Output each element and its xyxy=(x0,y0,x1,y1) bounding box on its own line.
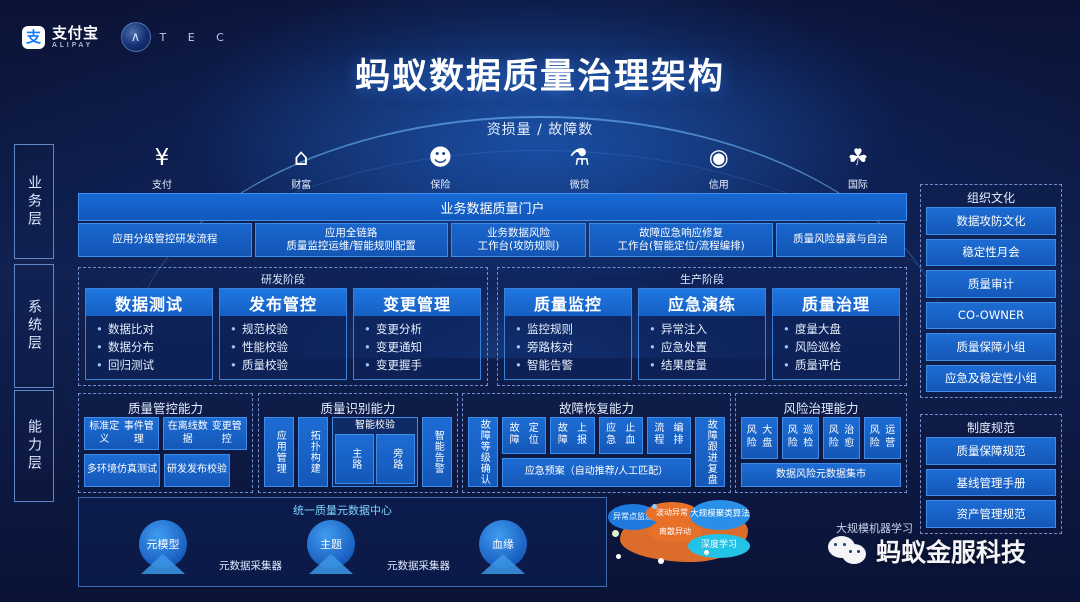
meta-collector-label: 元数据采集器 xyxy=(219,558,282,573)
risk-governance-group: 风险治理能力风险大盘风险巡检风险治愈风险运营数据风险元数据集市 xyxy=(735,393,907,493)
meta-beam-icon xyxy=(309,554,353,574)
fault-box[interactable]: 故障上报 xyxy=(550,417,594,454)
system-card-item: 风险巡检 xyxy=(773,339,899,357)
business-icon-label: 国际 xyxy=(826,176,890,191)
business-box-line: 工作台(智能定位/流程编排) xyxy=(617,240,744,253)
risk-datamart-box[interactable]: 数据风险元数据集市 xyxy=(741,463,901,487)
fault-recovery-group-body: 故障等级确认故障定位故障上报应急止血流程编排应急预案（自动推荐/人工匹配）故障跟… xyxy=(468,417,725,487)
system-card-item: 规范校验 xyxy=(220,321,346,339)
business-box-line: 工作台(攻防规则) xyxy=(478,240,560,253)
smart-verify-item[interactable]: 主路 xyxy=(335,434,374,484)
business-icon-cell: ⌂财富 xyxy=(269,143,333,191)
cap-line: 上报 xyxy=(572,423,591,448)
right-panel-item[interactable]: 数据攻防文化 xyxy=(926,207,1056,235)
right-panel-items: 数据攻防文化稳定性月会质量审计CO-OWNER质量保障小组应急及稳定性小组 xyxy=(926,207,1056,392)
quality-control-box[interactable]: 标准定义事件管理 xyxy=(84,417,159,450)
cap-line: 多环境 xyxy=(87,464,117,477)
system-card-item: 监控规则 xyxy=(505,321,631,339)
business-portal-header: 业务数据质量门户 xyxy=(78,193,907,221)
business-box-line: 质量风险暴露与自治 xyxy=(793,233,888,246)
page-title: 蚂蚁数据质量治理架构 xyxy=(0,48,1080,99)
cap-row: 标准定义事件管理在离线数据变更管控 xyxy=(84,417,247,450)
cap-line: 止血 xyxy=(621,423,640,448)
cap-line: 巡检 xyxy=(801,425,817,450)
system-card-item: 变更握手 xyxy=(354,357,480,375)
system-card-item: 应急处置 xyxy=(639,339,765,357)
quality-control-group: 质量管控能力标准定义事件管理在离线数据变更管控多环境仿真测试研发发布校验 xyxy=(78,393,253,493)
risk-governance-group-body: 风险大盘风险巡检风险治愈风险运营数据风险元数据集市 xyxy=(741,417,901,487)
business-icon-row: ¥支付⌂财富☻保险⚗微贷◉信用☘国际 xyxy=(130,143,890,191)
cap-line: 大盘 xyxy=(760,425,776,450)
system-card-质量监控[interactable]: 质量监控监控规则旁路核对智能告警 xyxy=(504,288,632,380)
cap-line: 发布校验 xyxy=(187,464,227,477)
fault-followup-box[interactable]: 故障跟进复盘 xyxy=(695,417,725,487)
layer-label-0: 业务层 xyxy=(14,144,54,259)
meta-center-title: 统一质量元数据中心 xyxy=(79,502,606,518)
alipay-name-cn: 支付宝 xyxy=(52,26,99,41)
ai-node-dot-0 xyxy=(612,530,619,537)
cap-line: 故障等级确认 xyxy=(477,419,490,485)
cap-line: 研发 xyxy=(167,464,187,477)
business-icon-cell: ⚗微贷 xyxy=(548,143,612,191)
risk-top-row: 风险大盘风险巡检风险治愈风险运营 xyxy=(741,417,901,459)
quality-identify-group-body: 应用管理拓扑构建智能校验主路旁路智能告警 xyxy=(264,417,452,487)
system-card-title: 发布管控 xyxy=(220,289,346,316)
business-box-3[interactable]: 故障应急响应修复工作台(智能定位/流程编排) xyxy=(589,223,772,257)
clover-icon: ☘ xyxy=(826,143,890,173)
risk-box[interactable]: 风险巡检 xyxy=(782,417,819,459)
system-card-title: 质量监控 xyxy=(505,289,631,316)
emergency-plan-box[interactable]: 应急预案（自动推荐/人工匹配） xyxy=(502,458,691,487)
page-subtitle: 资损量 / 故障数 xyxy=(0,119,1080,139)
system-card-变更管理[interactable]: 变更管理变更分析变更通知变更握手 xyxy=(353,288,481,380)
system-card-title: 应急演练 xyxy=(639,289,765,316)
right-panel-item[interactable]: 基线管理手册 xyxy=(926,469,1056,497)
system-card-item: 回归测试 xyxy=(86,357,212,375)
quality-identify-tail[interactable]: 智能告警 xyxy=(422,417,452,487)
right-panel-item[interactable]: 资产管理规范 xyxy=(926,500,1056,528)
cap-line: 故障 xyxy=(553,423,572,448)
cap-line: 变更管控 xyxy=(209,421,244,446)
quality-control-box[interactable]: 多环境仿真测试 xyxy=(84,454,160,487)
watermark: 蚂蚁金服科技 xyxy=(828,533,1026,569)
fault-box[interactable]: 流程编排 xyxy=(647,417,691,454)
quality-control-box[interactable]: 研发发布校验 xyxy=(164,454,230,487)
system-group-1: 生产阶段质量监控监控规则旁路核对智能告警应急演练异常注入应急处置结果度量质量治理… xyxy=(497,267,907,386)
business-box-1[interactable]: 应用全链路质量监控运维/智能规则配置 xyxy=(255,223,448,257)
fault-recovery-mid: 故障定位故障上报应急止血流程编排应急预案（自动推荐/人工匹配） xyxy=(502,417,691,487)
system-card-数据测试[interactable]: 数据测试数据比对数据分布回归测试 xyxy=(85,288,213,380)
system-card-row: 质量监控监控规则旁路核对智能告警应急演练异常注入应急处置结果度量质量治理度量大盘… xyxy=(504,288,900,380)
smart-verify-body: 主路旁路 xyxy=(335,434,415,484)
fault-recovery-group-title: 故障恢复能力 xyxy=(463,398,730,417)
quality-control-box[interactable]: 在离线数据变更管控 xyxy=(163,417,247,450)
cap-line: 应急 xyxy=(602,423,621,448)
quality-identify-box[interactable]: 应用管理 xyxy=(264,417,294,487)
right-panel-items: 质量保障规范基线管理手册资产管理规范 xyxy=(926,437,1056,528)
business-box-2[interactable]: 业务数据风险工作台(攻防规则) xyxy=(451,223,587,257)
right-panel-item[interactable]: CO-OWNER xyxy=(926,302,1056,330)
risk-governance-group-title: 风险治理能力 xyxy=(736,398,906,417)
ai-node-dot-1 xyxy=(616,554,621,559)
cap-row: 多环境仿真测试研发发布校验 xyxy=(84,454,247,487)
system-card-item: 结果度量 xyxy=(639,357,765,375)
business-box-line: 业务数据风险 xyxy=(487,227,550,240)
business-box-4[interactable]: 质量风险暴露与自治 xyxy=(776,223,905,257)
meta-beam-icon xyxy=(141,554,185,574)
system-card-item: 性能校验 xyxy=(220,339,346,357)
ai-node-dot-4 xyxy=(704,550,709,555)
risk-box[interactable]: 风险运营 xyxy=(864,417,901,459)
right-panel-title: 制度规范 xyxy=(921,419,1061,436)
cap-line: 拓扑构建 xyxy=(307,430,320,474)
ai-bubble-4: 深度学习 xyxy=(688,534,750,558)
cap-line: 治愈 xyxy=(842,425,858,450)
system-card-item: 度量大盘 xyxy=(773,321,899,339)
system-card-item: 智能告警 xyxy=(505,357,631,375)
system-card-质量治理[interactable]: 质量治理度量大盘风险巡检质量评估 xyxy=(772,288,900,380)
cap-line: 运营 xyxy=(883,425,899,450)
system-card-应急演练[interactable]: 应急演练异常注入应急处置结果度量 xyxy=(638,288,766,380)
credit-icon: ◉ xyxy=(687,143,751,173)
business-icon-label: 财富 xyxy=(269,176,333,191)
system-card-item: 变更通知 xyxy=(354,339,480,357)
business-icon-label: 微贷 xyxy=(548,176,612,191)
system-card-item: 旁路核对 xyxy=(505,339,631,357)
flask-icon: ⚗ xyxy=(548,143,612,173)
watermark-text: 蚂蚁金服科技 xyxy=(876,533,1026,569)
system-group-title: 生产阶段 xyxy=(498,271,906,287)
fault-recovery-group: 故障恢复能力故障等级确认故障定位故障上报应急止血流程编排应急预案（自动推荐/人工… xyxy=(462,393,731,493)
system-card-item: 数据比对 xyxy=(86,321,212,339)
business-icon-label: 信用 xyxy=(687,176,751,191)
cap-line: 流程 xyxy=(650,423,669,448)
cap-line: 风险 xyxy=(744,425,760,450)
right-panel-title: 组织文化 xyxy=(921,189,1061,206)
quality-control-group-body: 标准定义事件管理在离线数据变更管控多环境仿真测试研发发布校验 xyxy=(84,417,247,487)
cap-line: 事件管理 xyxy=(122,421,157,446)
cap-line: 数据风险元数据集市 xyxy=(776,469,866,482)
cap-line: 旁路 xyxy=(389,448,402,470)
cap-line: 风险 xyxy=(785,425,801,450)
system-card-row: 数据测试数据比对数据分布回归测试发布管控规范校验性能校验质量校验变更管理变更分析… xyxy=(85,288,481,380)
business-box-line: 应用全链路 xyxy=(325,227,378,240)
business-icon-cell: ☘国际 xyxy=(826,143,890,191)
business-box-line: 应用分级管控研发流程 xyxy=(112,233,217,246)
risk-column: 风险大盘风险巡检风险治愈风险运营数据风险元数据集市 xyxy=(741,417,901,487)
business-box-0[interactable]: 应用分级管控研发流程 xyxy=(78,223,252,257)
system-card-title: 质量治理 xyxy=(773,289,899,316)
cap-line: 定位 xyxy=(524,423,543,448)
quality-control-group-title: 质量管控能力 xyxy=(79,398,252,417)
ai-node-dot-2 xyxy=(658,558,664,564)
business-box-line: 故障应急响应修复 xyxy=(639,227,723,240)
smart-verify-title: 智能校验 xyxy=(335,420,415,432)
layer-label-2: 能力层 xyxy=(14,390,54,502)
risk-box[interactable]: 风险大盘 xyxy=(741,417,778,459)
meta-data-center: 统一质量元数据中心 元模型主题血缘元数据采集器元数据采集器 xyxy=(78,497,607,587)
cap-rows: 标准定义事件管理在离线数据变更管控多环境仿真测试研发发布校验 xyxy=(84,417,247,487)
cap-line: 故障 xyxy=(505,423,524,448)
meta-collector-label: 元数据采集器 xyxy=(387,558,450,573)
right-panel-1: 制度规范质量保障规范基线管理手册资产管理规范 xyxy=(920,414,1062,534)
right-panel-item[interactable]: 质量保障小组 xyxy=(926,333,1056,361)
cap-line: 智能告警 xyxy=(431,430,444,474)
business-icon-label: 支付 xyxy=(130,176,194,191)
cap-line: 应急预案（自动推荐/人工匹配） xyxy=(525,466,668,479)
system-group-0: 研发阶段数据测试数据比对数据分布回归测试发布管控规范校验性能校验质量校验变更管理… xyxy=(78,267,488,386)
smart-verify-nest: 智能校验主路旁路 xyxy=(332,417,418,487)
bank-icon: ⌂ xyxy=(269,143,333,173)
architecture-diagram: 支 支付宝 ALIPAY ∧ T E C 蚂蚁数据质量治理架构 资损量 / 故障… xyxy=(0,0,1080,602)
right-panel-0: 组织文化数据攻防文化稳定性月会质量审计CO-OWNER质量保障小组应急及稳定性小… xyxy=(920,184,1062,398)
ai-node-dot-3 xyxy=(652,504,657,509)
cap-line: 仿真测试 xyxy=(117,464,157,477)
quality-identify-box[interactable]: 拓扑构建 xyxy=(298,417,328,487)
ai-bubble-3: 大规模聚类算法 xyxy=(690,500,750,530)
system-group-title: 研发阶段 xyxy=(79,271,487,287)
layer-label-1: 系统层 xyxy=(14,264,54,388)
business-icon-cell: ◉信用 xyxy=(687,143,751,191)
fault-box[interactable]: 应急止血 xyxy=(599,417,643,454)
smart-verify-item[interactable]: 旁路 xyxy=(376,434,415,484)
cap-line: 风险 xyxy=(867,425,883,450)
right-panel-item[interactable]: 稳定性月会 xyxy=(926,239,1056,267)
system-card-title: 变更管理 xyxy=(354,289,480,316)
system-card-title: 数据测试 xyxy=(86,289,212,316)
business-box-row: 应用分级管控研发流程应用全链路质量监控运维/智能规则配置业务数据风险工作台(攻防… xyxy=(78,223,905,257)
right-panel-item[interactable]: 质量保障规范 xyxy=(926,437,1056,465)
business-icon-cell: ¥支付 xyxy=(130,143,194,191)
system-card-item: 质量评估 xyxy=(773,357,899,375)
system-card-item: 异常注入 xyxy=(639,321,765,339)
right-panel-item[interactable]: 应急及稳定性小组 xyxy=(926,365,1056,393)
business-icon-cell: ☻保险 xyxy=(408,143,472,191)
alipay-mark-icon: 支 xyxy=(22,26,45,49)
business-icon-label: 保险 xyxy=(408,176,472,191)
system-card-item: 数据分布 xyxy=(86,339,212,357)
quality-identify-group: 质量识别能力应用管理拓扑构建智能校验主路旁路智能告警 xyxy=(258,393,458,493)
system-card-发布管控[interactable]: 发布管控规范校验性能校验质量校验 xyxy=(219,288,347,380)
fault-top-row: 故障定位故障上报应急止血流程编排 xyxy=(502,417,691,454)
atec-letters: T E C xyxy=(160,31,233,44)
fault-level-confirm[interactable]: 故障等级确认 xyxy=(468,417,498,487)
wechat-icon xyxy=(828,536,870,566)
meta-beam-icon xyxy=(481,554,525,574)
right-panel-item[interactable]: 质量审计 xyxy=(926,270,1056,298)
cap-line: 故障跟进复盘 xyxy=(704,419,717,485)
risk-box[interactable]: 风险治愈 xyxy=(823,417,860,459)
wallet-icon: ¥ xyxy=(130,143,194,173)
person-icon: ☻ xyxy=(408,143,472,173)
cap-line: 应用管理 xyxy=(273,430,286,474)
quality-identify-group-title: 质量识别能力 xyxy=(259,398,457,417)
cap-line: 在离线数据 xyxy=(166,421,209,446)
ai-algorithm-graphic: 异常点监测波动异常离散异动大规模聚类算法深度学习 xyxy=(608,500,778,572)
cap-line: 主路 xyxy=(348,448,361,470)
business-box-line: 质量监控运维/智能规则配置 xyxy=(286,240,416,253)
system-card-item: 变更分析 xyxy=(354,321,480,339)
fault-box[interactable]: 故障定位 xyxy=(502,417,546,454)
cap-line: 风险 xyxy=(826,425,842,450)
alipay-logo: 支 支付宝 ALIPAY xyxy=(22,26,99,49)
system-card-item: 质量校验 xyxy=(220,357,346,375)
cap-line: 标准定义 xyxy=(87,421,122,446)
cap-line: 编排 xyxy=(669,423,688,448)
